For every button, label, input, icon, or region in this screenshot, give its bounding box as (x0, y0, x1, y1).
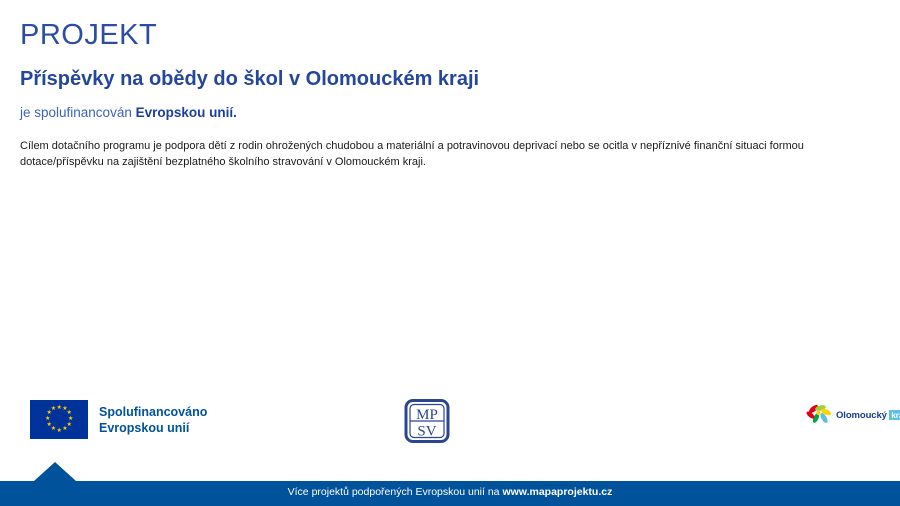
olomoucky-kraj-flower-icon (806, 403, 833, 427)
eu-cofinancing-logo: ★★★★★★★★★★★★ Spolufinancováno Evropskou … (30, 400, 207, 439)
footer-text-prefix: Více projektů podpořených Evropskou unií… (288, 486, 503, 498)
olomoucky-kraj-suffix: kraj (889, 410, 900, 420)
cofinancing-strong: Evropskou unií. (136, 105, 237, 120)
eu-star-icon: ★ (57, 429, 62, 434)
eu-caption-line-2: Evropskou unií (99, 420, 207, 436)
mpsv-text-top: MP (416, 407, 438, 423)
olomoucky-kraj-logo: Olomoucký kraj (806, 403, 900, 427)
olomoucky-kraj-wordmark: Olomoucký kraj (836, 410, 900, 421)
logo-strip: ★★★★★★★★★★★★ Spolufinancováno Evropskou … (0, 392, 900, 448)
page-title: Příspěvky na obědy do škol v Olomouckém … (20, 68, 479, 90)
footer-notch-triangle (34, 462, 76, 481)
eu-logo-caption: Spolufinancováno Evropskou unií (99, 404, 207, 436)
description-line-1: Cílem dotačního programu je podpora dětí… (20, 139, 880, 155)
page-kicker: PROJEKT (20, 21, 157, 50)
eu-star-icon: ★ (47, 423, 52, 428)
eu-star-icon: ★ (45, 417, 50, 422)
eu-star-icon: ★ (57, 406, 62, 411)
eu-flag-icon: ★★★★★★★★★★★★ (30, 400, 88, 439)
mpsv-logo-icon: MP SV (402, 399, 452, 443)
project-info-slide: PROJEKT Příspěvky na obědy do škol v Olo… (0, 0, 900, 506)
cofinancing-prefix: je spolufinancován (20, 105, 136, 120)
eu-caption-line-1: Spolufinancováno (99, 404, 207, 420)
project-description: Cílem dotačního programu je podpora dětí… (20, 139, 880, 171)
footer-link[interactable]: www.mapaprojektu.cz (502, 486, 612, 498)
description-line-2: dotace/příspěvku na zajištění bezplatnéh… (20, 155, 880, 171)
mpsv-text-bottom: SV (417, 424, 436, 440)
mpsv-svg: MP SV (402, 399, 452, 443)
olomoucky-kraj-name: Olomoucký (836, 410, 887, 421)
footer-text: Více projektů podpořených Evropskou unií… (0, 486, 900, 498)
eu-star-icon: ★ (62, 427, 67, 432)
eu-star-icon: ★ (51, 407, 56, 412)
cofinancing-statement: je spolufinancován Evropskou unií. (20, 106, 237, 121)
